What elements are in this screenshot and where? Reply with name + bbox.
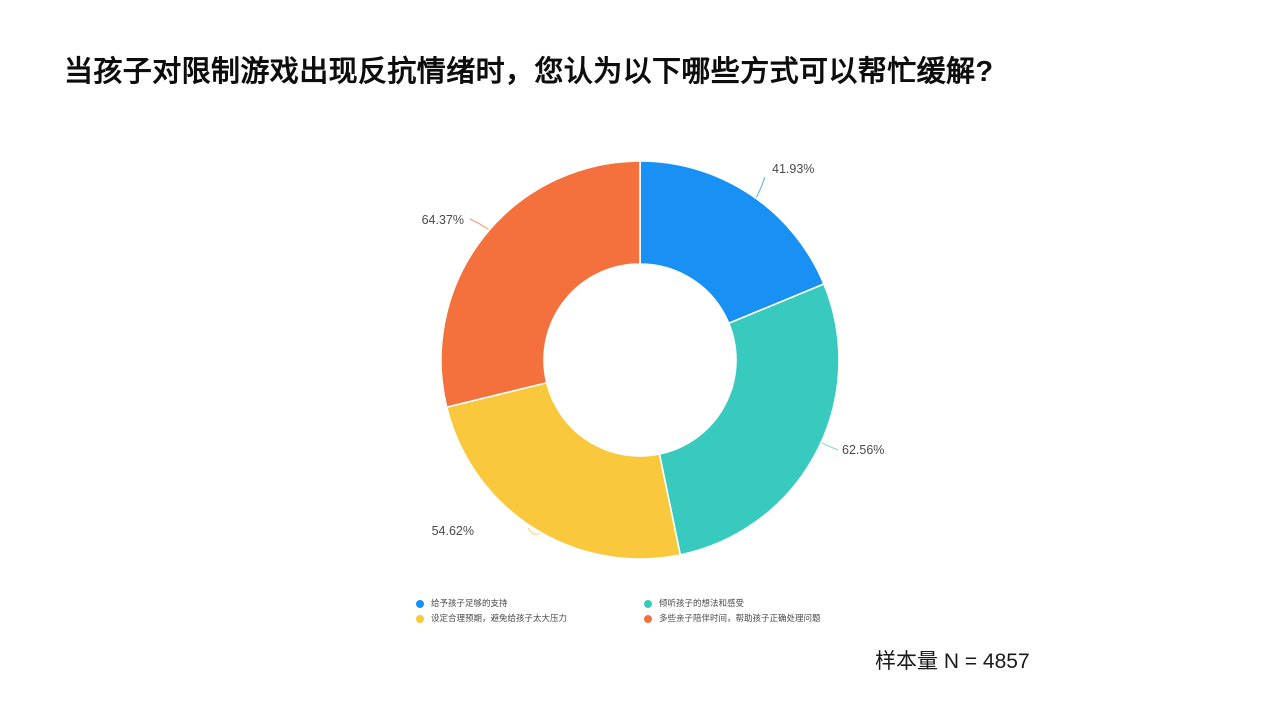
data-label-teal: 62.56% <box>842 443 884 457</box>
legend-item-label: 多些亲子陪伴时间，帮助孩子正确处理问题 <box>659 611 821 626</box>
legend-item-label: 设定合理预期，避免给孩子太大压力 <box>431 611 567 626</box>
chart-legend: 给予孩子足够的支持 倾听孩子的想法和感受 设定合理预期，避免给孩子太大压力 多些… <box>416 596 896 626</box>
data-label-yellow: 54.62% <box>432 524 474 538</box>
legend-item-2[interactable]: 设定合理预期，避免给孩子太大压力 <box>416 611 644 626</box>
donut-slice[interactable] <box>659 284 839 555</box>
legend-item-label: 给予孩子足够的支持 <box>431 596 508 611</box>
legend-marker-icon <box>644 615 652 623</box>
donut-chart: 41.93% 62.56% 54.62% 64.37% <box>0 120 1280 590</box>
data-label-blue: 41.93% <box>772 162 814 176</box>
slide-canvas: 当孩子对限制游戏出现反抗情绪时，您认为以下哪些方式可以帮忙缓解? 41.93% … <box>0 0 1280 720</box>
legend-item-label: 倾听孩子的想法和感受 <box>659 596 744 611</box>
legend-item-1[interactable]: 倾听孩子的想法和感受 <box>644 596 896 611</box>
donut-slice[interactable] <box>447 383 681 559</box>
donut-chart-svg: 41.93% 62.56% 54.62% 64.37% <box>0 120 1280 590</box>
donut-slices <box>441 161 839 559</box>
legend-marker-icon <box>416 615 424 623</box>
donut-slice[interactable] <box>441 161 640 407</box>
legend-marker-icon <box>644 600 652 608</box>
sample-size-text: 样本量 N = 4857 <box>875 645 1030 675</box>
legend-item-3[interactable]: 多些亲子陪伴时间，帮助孩子正确处理问题 <box>644 611 896 626</box>
page-title: 当孩子对限制游戏出现反抗情绪时，您认为以下哪些方式可以帮忙缓解? <box>64 54 1224 92</box>
data-label-orange: 64.37% <box>422 213 464 227</box>
legend-marker-icon <box>416 600 424 608</box>
legend-item-0[interactable]: 给予孩子足够的支持 <box>416 596 644 611</box>
